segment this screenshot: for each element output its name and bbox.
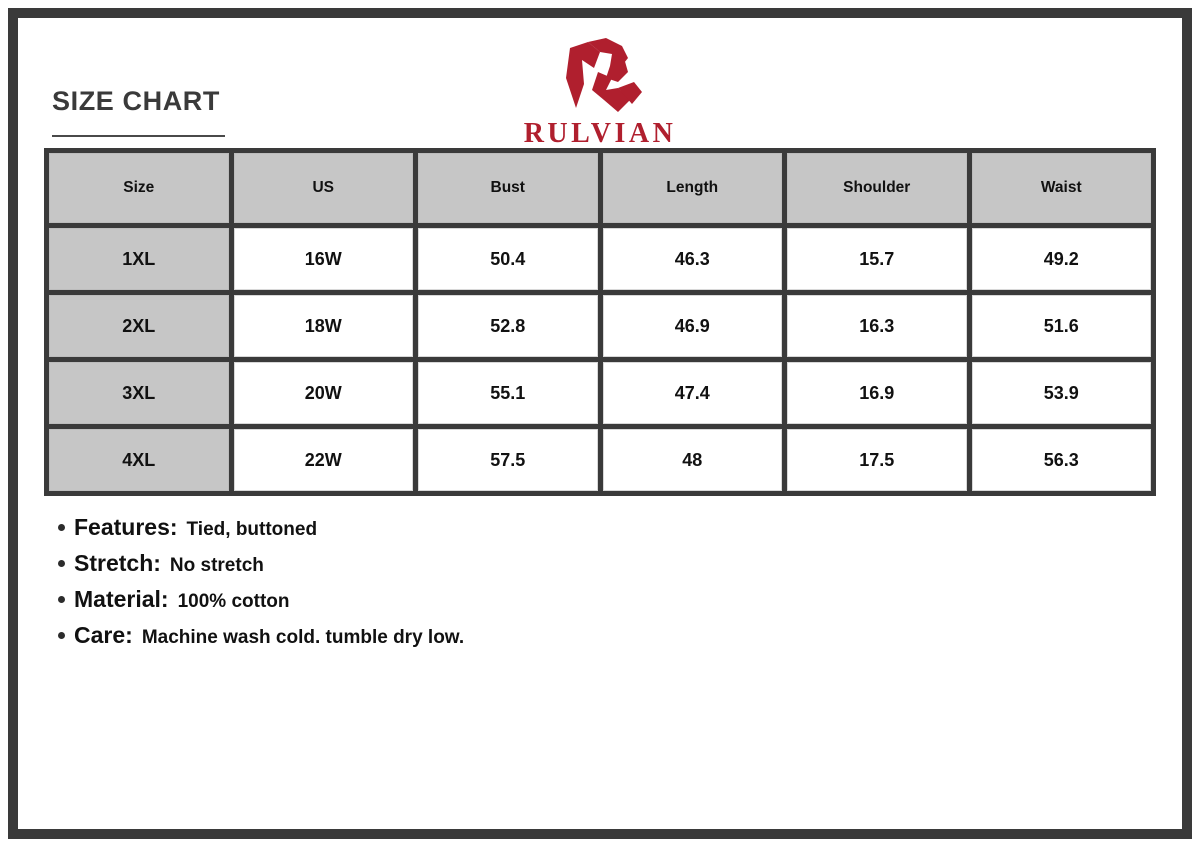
- cell-size: 3XL: [49, 362, 229, 424]
- cell-size: 1XL: [49, 228, 229, 290]
- list-item: Stretch: No stretch: [58, 550, 1182, 577]
- cell-bust: 50.4: [418, 228, 598, 290]
- table-header-row: Size US Bust Length Shoulder Waist: [49, 153, 1151, 223]
- size-table: Size US Bust Length Shoulder Waist 1XL 1…: [44, 148, 1156, 496]
- cell-shoulder: 16.9: [787, 362, 967, 424]
- table-head: Size US Bust Length Shoulder Waist: [49, 153, 1151, 223]
- column-header-size: Size: [49, 153, 229, 223]
- spec-label-features: Features:: [74, 514, 178, 541]
- cell-length: 46.9: [603, 295, 783, 357]
- list-item: Features: Tied, buttoned: [58, 514, 1182, 541]
- cell-waist: 56.3: [972, 429, 1152, 491]
- cell-length: 46.3: [603, 228, 783, 290]
- cell-shoulder: 16.3: [787, 295, 967, 357]
- outer-frame: SIZE CHART RULVIAN: [8, 8, 1192, 839]
- cell-waist: 53.9: [972, 362, 1152, 424]
- cell-size: 2XL: [49, 295, 229, 357]
- spec-label-stretch: Stretch:: [74, 550, 161, 577]
- cell-shoulder: 15.7: [787, 228, 967, 290]
- table-row: 2XL 18W 52.8 46.9 16.3 51.6: [49, 295, 1151, 357]
- content-area: SIZE CHART RULVIAN: [18, 18, 1182, 829]
- bullet-icon: [58, 524, 65, 531]
- rulvian-r-monogram-icon: [554, 38, 646, 116]
- bullet-icon: [58, 560, 65, 567]
- spec-value-material: 100% cotton: [178, 591, 290, 613]
- brand-logo: RULVIAN: [18, 38, 1182, 148]
- cell-bust: 55.1: [418, 362, 598, 424]
- spec-value-stretch: No stretch: [170, 555, 264, 577]
- spec-value-care: Machine wash cold. tumble dry low.: [142, 627, 464, 649]
- column-header-us: US: [234, 153, 414, 223]
- spec-value-features: Tied, buttoned: [187, 519, 318, 541]
- list-item: Care: Machine wash cold. tumble dry low.: [58, 622, 1182, 649]
- table-row: 1XL 16W 50.4 46.3 15.7 49.2: [49, 228, 1151, 290]
- column-header-length: Length: [603, 153, 783, 223]
- list-item: Material: 100% cotton: [58, 586, 1182, 613]
- cell-length: 48: [603, 429, 783, 491]
- column-header-waist: Waist: [972, 153, 1152, 223]
- table-body: 1XL 16W 50.4 46.3 15.7 49.2 2XL 18W 52.8…: [49, 228, 1151, 491]
- cell-bust: 52.8: [418, 295, 598, 357]
- size-table-wrapper: Size US Bust Length Shoulder Waist 1XL 1…: [44, 148, 1156, 496]
- column-header-bust: Bust: [418, 153, 598, 223]
- cell-shoulder: 17.5: [787, 429, 967, 491]
- cell-waist: 49.2: [972, 228, 1152, 290]
- spec-label-material: Material:: [74, 586, 169, 613]
- brand-wordmark: RULVIAN: [524, 120, 677, 148]
- cell-length: 47.4: [603, 362, 783, 424]
- cell-bust: 57.5: [418, 429, 598, 491]
- cell-us: 20W: [234, 362, 414, 424]
- cell-waist: 51.6: [972, 295, 1152, 357]
- bullet-icon: [58, 632, 65, 639]
- spec-label-care: Care:: [74, 622, 133, 649]
- cell-us: 16W: [234, 228, 414, 290]
- header: SIZE CHART RULVIAN: [18, 18, 1182, 148]
- table-row: 4XL 22W 57.5 48 17.5 56.3: [49, 429, 1151, 491]
- cell-size: 4XL: [49, 429, 229, 491]
- spec-list: Features: Tied, buttoned Stretch: No str…: [58, 514, 1182, 649]
- bullet-icon: [58, 596, 65, 603]
- table-row: 3XL 20W 55.1 47.4 16.9 53.9: [49, 362, 1151, 424]
- cell-us: 22W: [234, 429, 414, 491]
- size-chart-page: SIZE CHART RULVIAN: [0, 0, 1200, 847]
- column-header-shoulder: Shoulder: [787, 153, 967, 223]
- cell-us: 18W: [234, 295, 414, 357]
